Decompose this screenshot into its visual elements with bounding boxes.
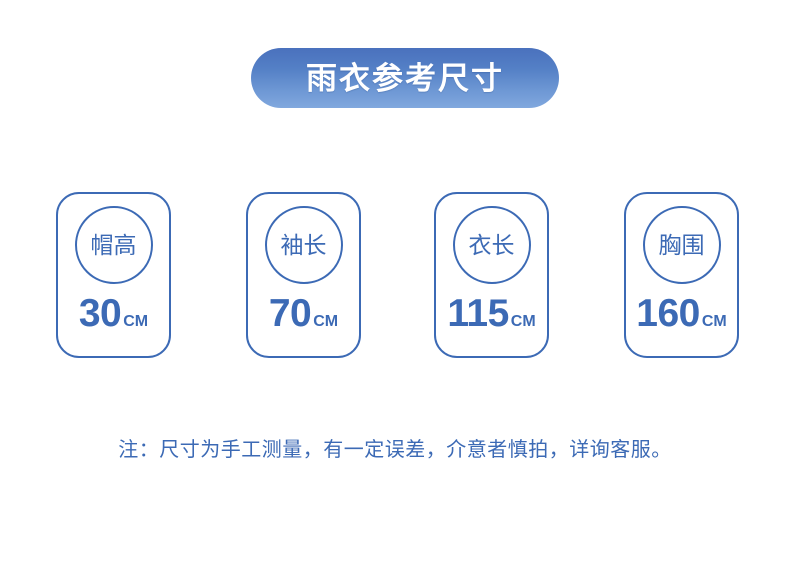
size-card-value-row: 115 CM <box>436 294 547 342</box>
title-banner: 雨衣参考尺寸 <box>251 48 559 108</box>
size-card-label: 帽高 <box>91 234 137 257</box>
label-circle: 帽高 <box>75 206 153 284</box>
size-card-value: 115 <box>447 294 508 333</box>
size-card-hat-height: 帽高 30 CM <box>56 192 171 358</box>
size-card-label: 胸围 <box>659 234 705 257</box>
label-circle: 衣长 <box>453 206 531 284</box>
size-card-label: 袖长 <box>281 234 327 257</box>
label-circle: 胸围 <box>643 206 721 284</box>
size-chart-page: 雨衣参考尺寸 帽高 30 CM 袖长 70 CM 衣长 <box>0 0 790 565</box>
label-circle: 袖长 <box>265 206 343 284</box>
size-card-unit: CM <box>702 314 727 330</box>
size-card-row: 帽高 30 CM 袖长 70 CM 衣长 115 CM <box>0 192 790 358</box>
size-card-value-row: 30 CM <box>58 294 169 342</box>
size-card-unit: CM <box>123 314 148 330</box>
size-card-garment-length: 衣长 115 CM <box>434 192 549 358</box>
size-card-value-row: 70 CM <box>248 294 359 342</box>
size-card-chest-circumference: 胸围 160 CM <box>624 192 739 358</box>
size-card-label: 衣长 <box>469 234 515 257</box>
page-title: 雨衣参考尺寸 <box>306 63 504 94</box>
size-card-sleeve-length: 袖长 70 CM <box>246 192 361 358</box>
size-card-unit: CM <box>313 314 338 330</box>
size-card-value: 30 <box>79 294 121 333</box>
measurement-disclaimer: 注：尺寸为手工测量，有一定误差，介意者慎拍，详询客服。 <box>0 436 790 464</box>
size-card-value-row: 160 CM <box>626 294 737 342</box>
size-card-value: 70 <box>269 294 311 333</box>
size-card-value: 160 <box>636 294 700 333</box>
size-card-unit: CM <box>511 314 536 330</box>
